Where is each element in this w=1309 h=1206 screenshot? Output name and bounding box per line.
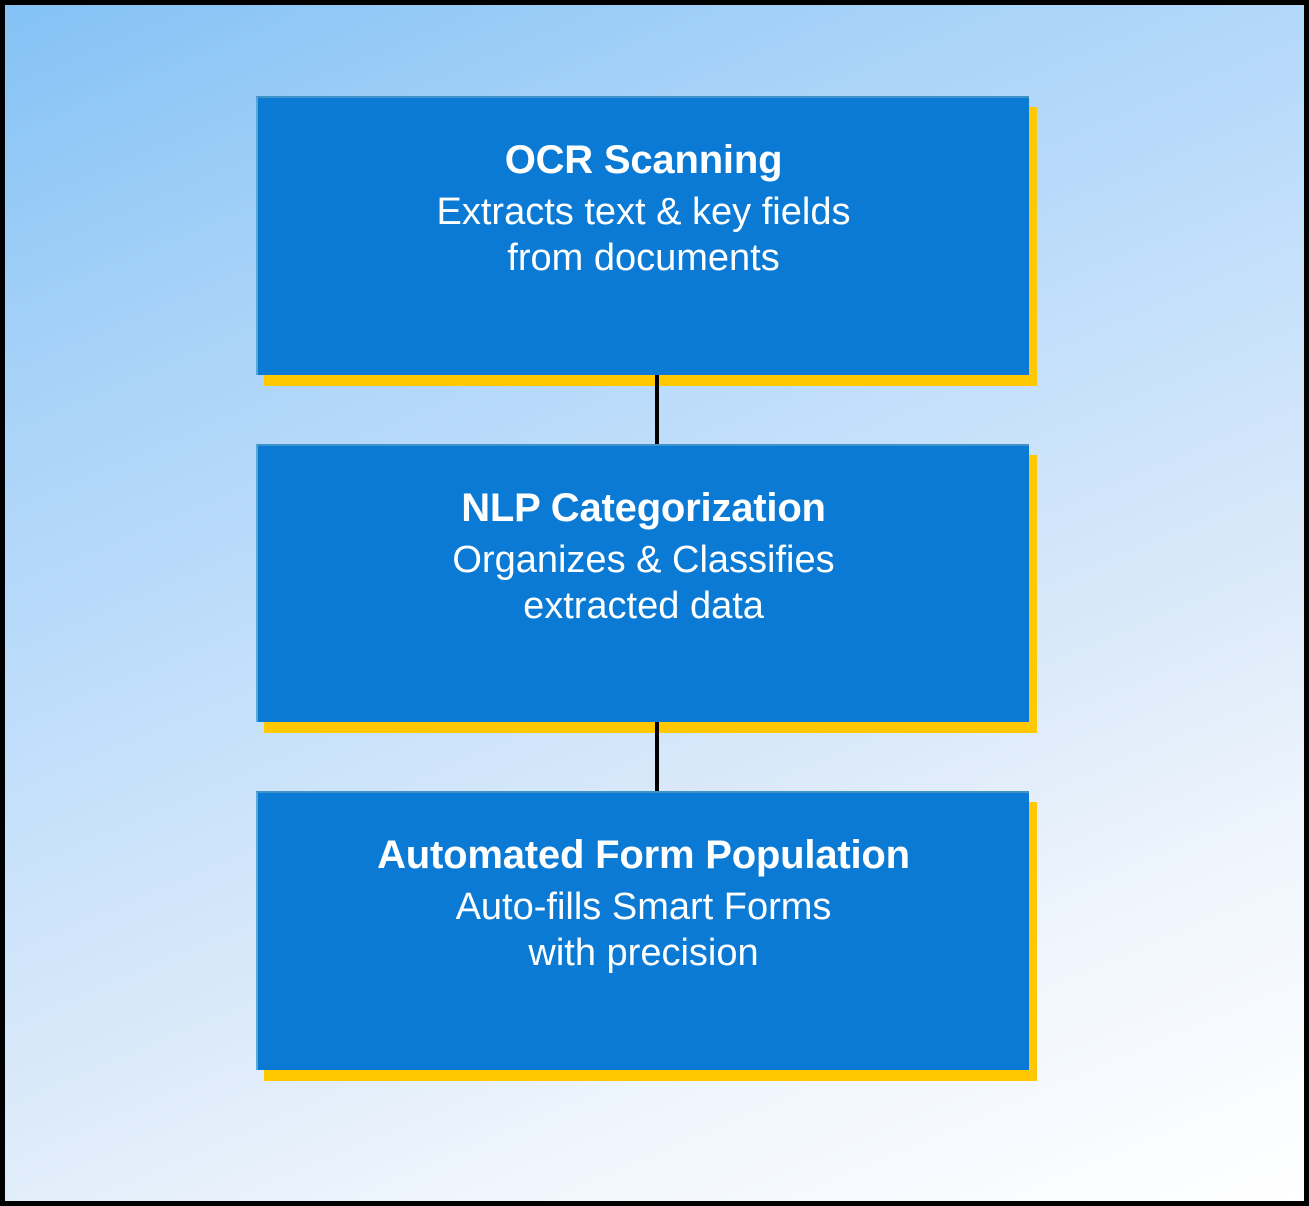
node-title: Automated Form Population xyxy=(284,833,1003,878)
node-description: Organizes & Classifies extracted data xyxy=(284,537,1003,630)
node-description: Auto-fills Smart Forms with precision xyxy=(284,884,1003,977)
diagram-canvas: OCR Scanning Extracts text & key fields … xyxy=(0,0,1309,1206)
node-body: NLP Categorization Organizes & Classifie… xyxy=(256,444,1029,722)
node-body: Automated Form Population Auto-fills Sma… xyxy=(256,791,1029,1070)
connector-line-icon xyxy=(655,375,659,444)
node-title: OCR Scanning xyxy=(284,138,1003,183)
process-flow: OCR Scanning Extracts text & key fields … xyxy=(256,96,1046,1070)
node-description-line: Organizes & Classifies xyxy=(284,537,1003,583)
node-body: OCR Scanning Extracts text & key fields … xyxy=(256,96,1029,375)
connector-line-icon xyxy=(655,722,659,791)
connector-arrow-2 xyxy=(256,722,1029,791)
node-description-line: from documents xyxy=(284,235,1003,281)
flow-node-automated-form-population[interactable]: Automated Form Population Auto-fills Sma… xyxy=(256,791,1046,1070)
node-description-line: with precision xyxy=(284,930,1003,976)
node-description-line: Auto-fills Smart Forms xyxy=(284,884,1003,930)
node-description-line: Extracts text & key fields xyxy=(284,189,1003,235)
node-description: Extracts text & key fields from document… xyxy=(284,189,1003,282)
flow-node-ocr-scanning[interactable]: OCR Scanning Extracts text & key fields … xyxy=(256,96,1046,375)
flow-node-nlp-categorization[interactable]: NLP Categorization Organizes & Classifie… xyxy=(256,444,1046,722)
node-description-line: extracted data xyxy=(284,583,1003,629)
connector-arrow-1 xyxy=(256,375,1029,444)
node-title: NLP Categorization xyxy=(284,486,1003,531)
